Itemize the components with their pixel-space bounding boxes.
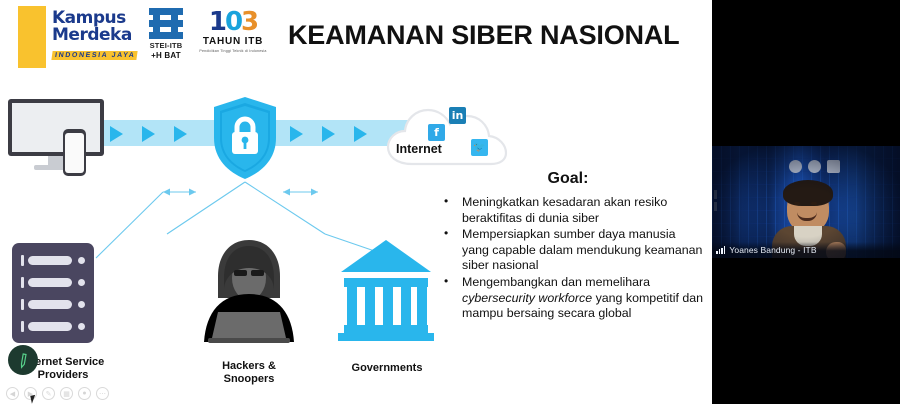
goal-title: Goal: [432, 170, 704, 188]
hackers-label-line2: Snoopers [194, 373, 304, 386]
hacker-icon [196, 238, 302, 348]
signal-strength-icon [716, 246, 725, 254]
shield-lock-icon [212, 96, 278, 180]
government-building-icon [338, 238, 434, 342]
stei-itb-logo: STEI-ITB +H BAT [140, 8, 192, 70]
itb-103-logo: 103 TAHUN ITB Pendidikan Tinggi Teknik d… [196, 8, 270, 70]
kampus-merdeka-logo: Kampus Merdeka INDONESIA JAYA [52, 10, 148, 62]
presentation-slide: Kampus Merdeka INDONESIA JAYA STEI-ITB +… [0, 0, 712, 404]
internet-cloud: Internet in f 🐦 [386, 104, 508, 168]
kampus-merdeka-tagline: INDONESIA JAYA [51, 51, 138, 60]
linkedin-icon: in [449, 107, 466, 124]
flow-arrow-left-1 [110, 126, 123, 142]
slide-title: KEAMANAN SIBER NASIONAL [288, 20, 698, 51]
itb-anniversary-number: 103 [196, 8, 270, 36]
video-participant-tile[interactable]: Yoanes Bandung - ITB [712, 146, 900, 258]
goal-bullet-2: Mempersiapkan sumber daya manusia yang c… [432, 227, 704, 274]
facebook-icon: f [428, 124, 445, 141]
all-slides-button[interactable]: ▦ [60, 387, 73, 400]
previous-slide-button[interactable]: ◀ [6, 387, 19, 400]
logo-bar: Kampus Merdeka INDONESIA JAYA STEI-ITB +… [0, 0, 300, 80]
yellow-accent-bar [18, 6, 46, 68]
itb-anniversary-label: TAHUN ITB [196, 36, 270, 47]
goal-bullet-3: Mengembangkan dan memelihara cybersecuri… [432, 275, 704, 322]
node-label-hackers: Hackers & Snoopers [194, 360, 304, 386]
slideshow-toolbar[interactable]: ◀ ▶ ✎ ▦ ● ⋯ [6, 387, 109, 400]
flow-arrow-right-2 [322, 126, 335, 142]
screen: Kampus Merdeka INDONESIA JAYA STEI-ITB +… [0, 0, 900, 404]
participant-name: Yoanes Bandung - ITB [729, 245, 816, 255]
more-options-button[interactable]: ⋯ [96, 387, 109, 400]
cloud-label: Internet [396, 142, 442, 156]
flow-arrow-right-3 [354, 126, 367, 142]
desktop-monitor-icon [8, 99, 104, 171]
goal-bullet-list: Meningkatkan kesadaran akan resiko berak… [432, 195, 704, 322]
stei-logo-line1: STEI-ITB [140, 41, 192, 50]
flow-arrow-left-2 [142, 126, 155, 142]
twitter-icon: 🐦 [471, 139, 488, 156]
node-label-governments: Governments [332, 362, 442, 375]
mouse-cursor [30, 394, 39, 403]
governments-label-line1: Governments [332, 362, 442, 375]
hackers-label-line1: Hackers & [194, 360, 304, 373]
stei-logo-line2: +H BAT [140, 51, 192, 60]
goal-bullet-1: Meningkatkan kesadaran akan resiko berak… [432, 195, 704, 226]
server-rack-icon [12, 243, 94, 348]
goal-section: Goal: Meningkatkan kesadaran akan resiko… [432, 170, 704, 323]
pen-tool-button[interactable]: ✎ [42, 387, 55, 400]
itb-anniversary-tagline: Pendidikan Tinggi Teknik di Indonesia [196, 49, 270, 53]
participant-name-bar: Yoanes Bandung - ITB [712, 242, 900, 258]
stei-mark-icon [147, 8, 185, 40]
smartphone-icon [63, 129, 86, 176]
pen-annotation-icon[interactable] [8, 345, 38, 375]
flow-arrow-left-3 [174, 126, 187, 142]
zoom-in-button[interactable]: ● [78, 387, 91, 400]
kampus-merdeka-line2: Merdeka [52, 27, 148, 44]
flow-arrow-right-1 [290, 126, 303, 142]
